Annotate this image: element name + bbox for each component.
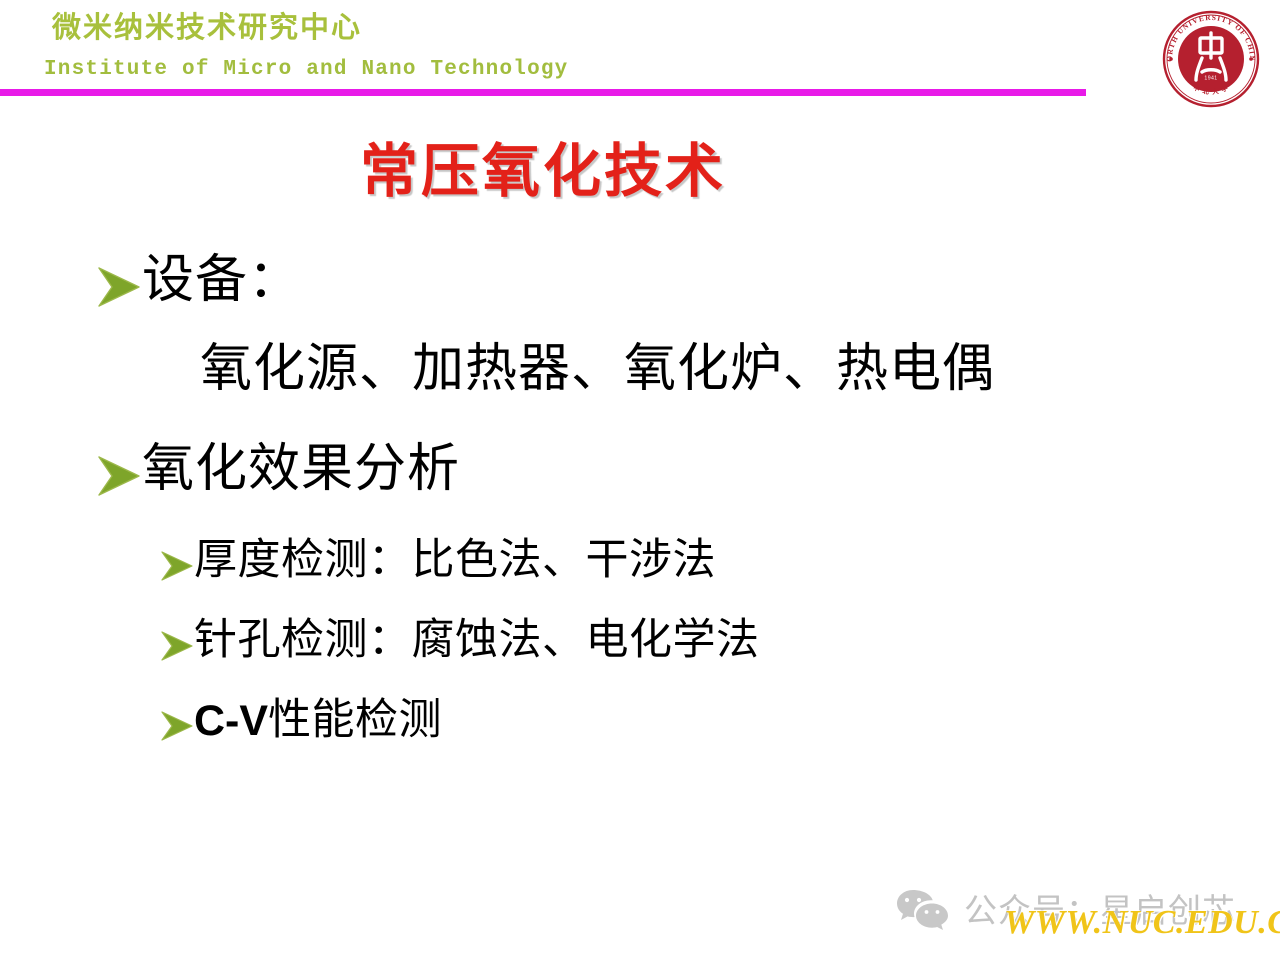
bullet-row-pinhole-test: 针孔检测：腐蚀法、电化学法 xyxy=(160,618,760,665)
bullet-text-latin: C-V xyxy=(194,698,268,744)
arrow-bullet-icon xyxy=(160,547,194,585)
bullet-text: 针孔检测：腐蚀法、电化学法 xyxy=(194,618,760,664)
bullet-text: 性能检测 xyxy=(268,698,442,744)
bullet-row-equipment: 设备： xyxy=(96,253,301,312)
arrow-bullet-icon xyxy=(96,262,142,312)
arrow-bullet-icon xyxy=(160,707,194,745)
text-row-equipment-list: 氧化源、加热器、氧化炉、热电偶 xyxy=(200,342,995,398)
url-watermark: WWW.NUC.EDU.CN xyxy=(1004,906,1280,940)
bullet-text: 厚度检测：比色法、干涉法 xyxy=(194,538,716,584)
arrow-bullet-icon xyxy=(160,627,194,665)
wechat-icon xyxy=(896,888,950,932)
bullet-text: 设备： xyxy=(142,253,301,309)
slide-header: 微米纳米技术研究中心 Institute of Micro and Nano T… xyxy=(0,0,1280,100)
institute-name-en: Institute of Micro and Nano Technology xyxy=(44,58,568,81)
bullet-row-analysis: 氧化效果分析 xyxy=(96,442,460,501)
bullet-row-cv-test: C-V 性能检测 xyxy=(160,698,442,745)
header-divider-rule xyxy=(0,89,1086,96)
svg-text:1941: 1941 xyxy=(1204,76,1217,82)
equipment-list-text: 氧化源、加热器、氧化炉、热电偶 xyxy=(200,342,995,398)
institute-name-cn: 微米纳米技术研究中心 xyxy=(52,13,362,45)
university-seal-icon: NORTH UNIVERSITY OF CHINA 中 北 大 学 1941 xyxy=(1158,6,1264,112)
slide: 微米纳米技术研究中心 Institute of Micro and Nano T… xyxy=(0,0,1280,960)
arrow-bullet-icon xyxy=(96,451,142,501)
bullet-row-thickness-test: 厚度检测：比色法、干涉法 xyxy=(160,538,716,585)
bullet-text: 氧化效果分析 xyxy=(142,442,460,498)
slide-title: 常压氧化技术 xyxy=(0,139,1086,206)
